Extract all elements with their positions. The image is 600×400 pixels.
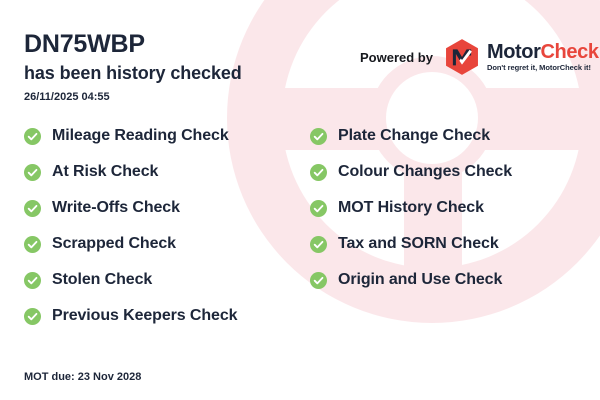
check-item: Plate Change Check [310,118,512,154]
wordmark-motor: Motor [487,41,541,63]
green-circle-check-icon [24,128,41,145]
check-item-label: Tax and SORN Check [338,235,499,253]
green-circle-check-icon [310,236,327,253]
green-circle-check-icon [24,236,41,253]
history-check-summary-card: DN75WBP has been history checked 26/11/2… [0,0,600,400]
green-circle-check-icon [24,164,41,181]
check-item: Origin and Use Check [310,262,512,298]
check-item-label: Origin and Use Check [338,271,502,289]
check-item-label: MOT History Check [338,199,484,217]
green-circle-check-icon [310,272,327,289]
motorcheck-wordmark: MotorCheck [487,42,599,62]
check-timestamp: 26/11/2025 04:55 [24,91,242,103]
powered-by-block: Powered by MotorCheck Don't regret it, M… [360,38,599,76]
green-circle-check-icon [310,200,327,217]
wordmark-check: Check [541,41,599,63]
powered-by-label: Powered by [360,50,433,65]
page-title: has been history checked [24,62,242,85]
green-circle-check-icon [24,200,41,217]
check-item-label: Write-Offs Check [52,199,180,217]
checks-column-left: Mileage Reading Check At Risk Check Writ… [24,118,237,334]
registration-plate: DN75WBP [24,30,242,60]
green-circle-check-icon [24,272,41,289]
checks-column-right: Plate Change Check Colour Changes Check … [310,118,512,298]
check-item: Scrapped Check [24,226,237,262]
check-item-label: Plate Change Check [338,127,490,145]
check-item: Mileage Reading Check [24,118,237,154]
green-circle-check-icon [310,164,327,181]
check-item: Write-Offs Check [24,190,237,226]
check-item-label: At Risk Check [52,163,158,181]
mot-due-label: MOT due: 23 Nov 2028 [24,371,141,383]
check-item: At Risk Check [24,154,237,190]
check-item-label: Colour Changes Check [338,163,512,181]
check-item-label: Mileage Reading Check [52,127,229,145]
check-item-label: Previous Keepers Check [52,307,237,325]
check-item: Colour Changes Check [310,154,512,190]
check-item: Stolen Check [24,262,237,298]
brand-tagline: Don't regret it, MotorCheck it! [487,64,599,72]
motorcheck-logo[interactable]: MotorCheck Don't regret it, MotorCheck i… [443,38,599,76]
check-item-label: Scrapped Check [52,235,176,253]
green-circle-check-icon [24,308,41,325]
motorcheck-wordmark-block: MotorCheck Don't regret it, MotorCheck i… [487,42,599,72]
check-item: MOT History Check [310,190,512,226]
header-block: DN75WBP has been history checked 26/11/2… [24,30,242,103]
check-item: Previous Keepers Check [24,298,237,334]
check-item-label: Stolen Check [52,271,152,289]
check-item: Tax and SORN Check [310,226,512,262]
green-circle-check-icon [310,128,327,145]
motorcheck-hexagon-m-icon [443,38,481,76]
